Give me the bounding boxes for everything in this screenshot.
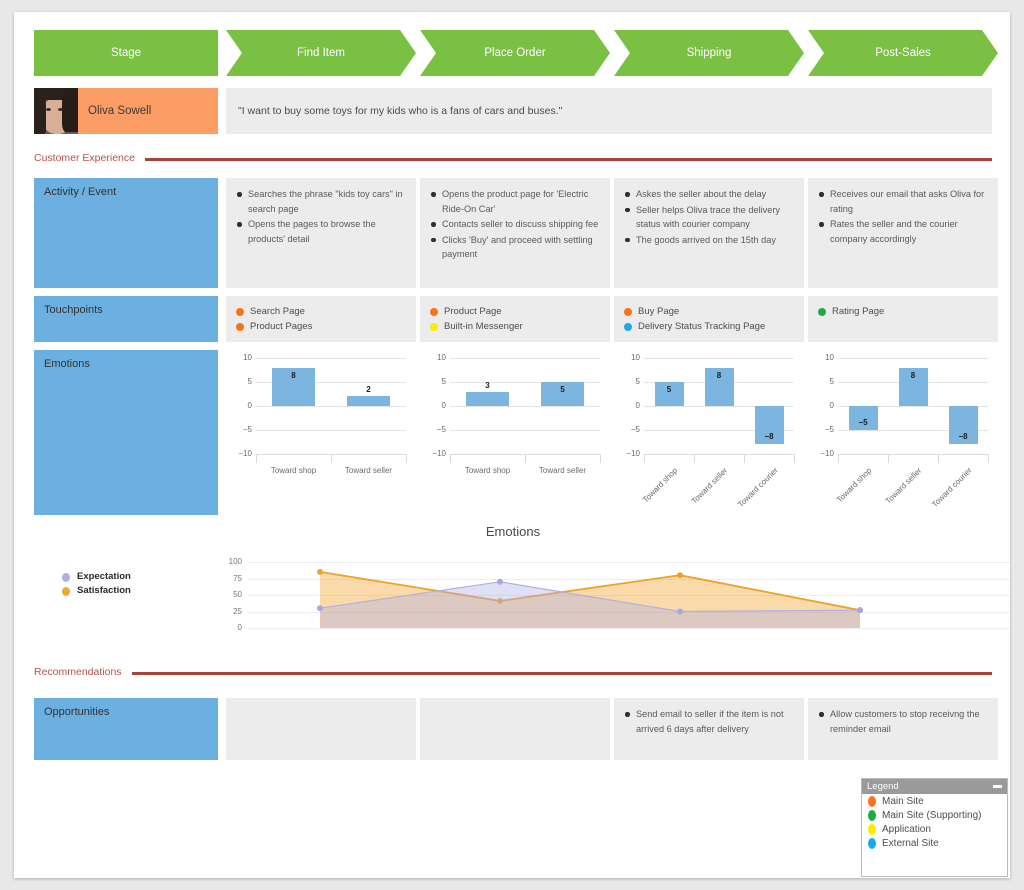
- category-label: Toward courier: [930, 466, 974, 510]
- emotions-chart-title: Emotions: [34, 524, 992, 539]
- y-axis-tick: −5: [424, 425, 446, 434]
- category-label: Toward shop: [260, 466, 328, 477]
- list-item: Clicks 'Buy' and proceed with settling p…: [442, 233, 602, 262]
- category-label: Toward shop: [636, 466, 680, 510]
- axis-tick: [331, 454, 332, 463]
- row-activity-event: Activity / Event Searches the phrase "ki…: [34, 178, 992, 288]
- y-axis-tick: 10: [424, 353, 446, 362]
- list-item: Opens the pages to browse the products' …: [248, 217, 408, 246]
- cell-activity-2[interactable]: Opens the product page for 'Electric Rid…: [420, 178, 610, 288]
- list-item: Allow customers to stop receivng the rem…: [830, 707, 990, 736]
- axis-tick: [888, 454, 889, 463]
- series-label: Satisfaction: [77, 584, 131, 598]
- legend-item-label: Application: [882, 824, 931, 835]
- legend-series-satisfaction[interactable]: Satisfaction: [62, 584, 131, 598]
- list-item: The goods arrived on the 15th day: [636, 233, 796, 248]
- touchpoint-item[interactable]: Built-in Messenger: [430, 319, 602, 334]
- legend-item[interactable]: Main Site: [862, 794, 1007, 808]
- row-label-opportunities: Opportunities: [34, 698, 218, 760]
- y-axis-tick: −10: [812, 449, 834, 458]
- y-axis-tick: 5: [230, 377, 252, 386]
- y-axis-tick: 0: [230, 401, 252, 410]
- stage-place-order[interactable]: Place Order: [420, 30, 610, 76]
- gridline: [256, 358, 406, 359]
- row-opportunities: Opportunities Send email to seller if th…: [34, 698, 992, 760]
- axis-tick: [794, 454, 795, 463]
- touchpoint-dot-icon: [236, 308, 244, 316]
- y-axis-tick: 10: [812, 353, 834, 362]
- bar-value-label: 3: [468, 381, 508, 390]
- cell-activity-4[interactable]: Receives our email that asks Oliva for r…: [808, 178, 998, 288]
- gridline: [256, 406, 406, 407]
- stage-post-sales[interactable]: Post-Sales: [808, 30, 998, 76]
- emotion-chart-post-sales[interactable]: 1050−5−10−58−8Toward shopToward sellerTo…: [808, 350, 998, 515]
- legend-items: Main SiteMain Site (Supporting)Applicati…: [862, 794, 1007, 850]
- y-axis-tick: 0: [618, 401, 640, 410]
- bar-value-label: 8: [893, 371, 933, 380]
- category-label: Toward seller: [529, 466, 597, 477]
- row-label-touchpoints: Touchpoints: [34, 296, 218, 342]
- bar-value-label: 5: [649, 385, 689, 394]
- data-point: [677, 609, 683, 615]
- category-label: Toward shop: [830, 466, 874, 510]
- axis-tick: [600, 454, 601, 463]
- y-axis-tick: 10: [230, 353, 252, 362]
- category-label: Toward seller: [686, 466, 730, 510]
- section-label: Recommendations: [34, 666, 122, 678]
- collapse-icon[interactable]: [993, 785, 1002, 788]
- y-axis-tick: −10: [424, 449, 446, 458]
- touchpoint-label: Buy Page: [638, 304, 679, 319]
- touchpoint-label: Built-in Messenger: [444, 319, 523, 334]
- stage-header-label: Stage: [34, 30, 218, 76]
- y-axis-tick: −5: [618, 425, 640, 434]
- legend-header: Legend: [862, 779, 1007, 794]
- touchpoint-item[interactable]: Product Pages: [236, 319, 408, 334]
- bar[interactable]: [466, 392, 510, 406]
- axis-tick: [525, 454, 526, 463]
- y-axis-tick: 5: [618, 377, 640, 386]
- row-touchpoints: Touchpoints Search PageProduct Pages Pro…: [34, 296, 992, 342]
- gridline: [838, 358, 988, 359]
- legend-series-expectation[interactable]: Expectation: [62, 570, 131, 584]
- cell-touchpoints-3[interactable]: Buy PageDelivery Status Tracking Page: [614, 296, 804, 342]
- bar-value-label: −5: [843, 418, 883, 427]
- list-item: Seller helps Oliva trace the delivery st…: [636, 203, 796, 232]
- cell-touchpoints-2[interactable]: Product PageBuilt-in Messenger: [420, 296, 610, 342]
- y-axis-tick: −10: [618, 449, 640, 458]
- persona-card[interactable]: Oliva Sowell: [34, 88, 218, 134]
- persona-row: Oliva Sowell "I want to buy some toys fo…: [34, 88, 992, 134]
- touchpoint-dot-icon: [818, 308, 826, 316]
- y-axis-tick: 10: [618, 353, 640, 362]
- gridline: [450, 406, 600, 407]
- category-label: Toward courier: [736, 466, 780, 510]
- touchpoint-label: Delivery Status Tracking Page: [638, 319, 765, 334]
- gridline: [256, 430, 406, 431]
- series-color-icon: [62, 573, 70, 582]
- emotions-area-chart[interactable]: Emotions ExpectationSatisfaction 1007550…: [34, 524, 992, 652]
- touchpoint-item[interactable]: Search Page: [236, 304, 408, 319]
- axis-tick: [938, 454, 939, 463]
- legend-item-label: Main Site (Supporting): [882, 810, 982, 821]
- list-item: Rates the seller and the courier company…: [830, 217, 990, 246]
- axis-tick: [406, 454, 407, 463]
- list-item: Askes the seller about the delay: [636, 187, 796, 202]
- category-axis: [644, 454, 794, 455]
- cell-touchpoints-1[interactable]: Search PageProduct Pages: [226, 296, 416, 342]
- y-axis-tick: 5: [812, 377, 834, 386]
- axis-tick: [644, 454, 645, 463]
- y-axis-tick: 0: [424, 401, 446, 410]
- legend-panel[interactable]: Legend Main SiteMain Site (Supporting)Ap…: [861, 778, 1008, 877]
- row-label-emotions: Emotions: [34, 350, 218, 515]
- persona-quote: "I want to buy some toys for my kids who…: [226, 88, 992, 134]
- bar-value-label: 2: [349, 385, 389, 394]
- data-point: [317, 569, 323, 575]
- touchpoint-dot-icon: [624, 308, 632, 316]
- cell-opportunity-2[interactable]: [420, 698, 610, 760]
- series-label: Expectation: [77, 570, 131, 584]
- legend-title: Legend: [867, 781, 899, 792]
- touchpoint-label: Search Page: [250, 304, 305, 319]
- series-color-icon: [62, 587, 70, 596]
- touchpoint-item[interactable]: Delivery Status Tracking Page: [624, 319, 796, 334]
- list-item: Send email to seller if the item is not …: [636, 707, 796, 736]
- touchpoint-item[interactable]: Product Page: [430, 304, 602, 319]
- gridline: [644, 358, 794, 359]
- legend-item[interactable]: Main Site (Supporting): [862, 808, 1007, 822]
- emotion-chart-find-item[interactable]: 1050−5−1082Toward shopToward seller: [226, 350, 416, 515]
- y-axis-tick: 5: [424, 377, 446, 386]
- stage-find-item[interactable]: Find Item: [226, 30, 416, 76]
- bar[interactable]: [347, 396, 391, 406]
- bar-value-label: 8: [699, 371, 739, 380]
- emotions-chart-legend: ExpectationSatisfaction: [62, 570, 131, 598]
- section-customer-experience: Customer Experience: [34, 150, 992, 166]
- emotions-plot-area: 1007550250: [220, 558, 1010, 644]
- journey-map-canvas: Stage Find Item Place Order Shipping Pos…: [14, 12, 1010, 878]
- section-recommendations: Recommendations: [34, 664, 992, 680]
- list-item: Opens the product page for 'Electric Rid…: [442, 187, 602, 216]
- y-axis-tick: 0: [812, 401, 834, 410]
- touchpoint-label: Product Pages: [250, 319, 312, 334]
- axis-tick: [744, 454, 745, 463]
- cell-activity-1[interactable]: Searches the phrase "kids toy cars" in s…: [226, 178, 416, 288]
- data-point: [317, 605, 323, 611]
- category-axis: [838, 454, 988, 455]
- stage-header-row: Stage Find Item Place Order Shipping Pos…: [34, 30, 992, 76]
- axis-tick: [694, 454, 695, 463]
- touchpoint-dot-icon: [624, 323, 632, 331]
- legend-item-label: Main Site: [882, 796, 924, 807]
- category-label: Toward shop: [454, 466, 522, 477]
- row-emotions: Emotions 1050−5−1082Toward shopToward se…: [34, 350, 992, 515]
- legend-item[interactable]: External Site: [862, 836, 1007, 850]
- data-point: [677, 572, 683, 578]
- axis-tick: [450, 454, 451, 463]
- list-item: Receives our email that asks Oliva for r…: [830, 187, 990, 216]
- area-chart-svg: [220, 558, 1010, 644]
- axis-tick: [988, 454, 989, 463]
- list-item: Searches the phrase "kids toy cars" in s…: [248, 187, 408, 216]
- bar-value-label: 5: [543, 385, 583, 394]
- emotion-chart-place-order[interactable]: 1050−5−1035Toward shopToward seller: [420, 350, 610, 515]
- cell-opportunity-3[interactable]: Send email to seller if the item is not …: [614, 698, 804, 760]
- y-axis-tick: −10: [230, 449, 252, 458]
- section-label: Customer Experience: [34, 152, 135, 164]
- touchpoint-item[interactable]: Buy Page: [624, 304, 796, 319]
- cell-activity-3[interactable]: Askes the seller about the delaySeller h…: [614, 178, 804, 288]
- touchpoint-dot-icon: [430, 323, 438, 331]
- gridline: [450, 430, 600, 431]
- legend-item[interactable]: Application: [862, 822, 1007, 836]
- list-item: Contacts seller to discuss shipping fee: [442, 217, 602, 232]
- cell-opportunity-1[interactable]: [226, 698, 416, 760]
- stage-shipping[interactable]: Shipping: [614, 30, 804, 76]
- legend-color-icon: [868, 824, 876, 835]
- touchpoint-label: Product Page: [444, 304, 502, 319]
- touchpoint-item[interactable]: Rating Page: [818, 304, 990, 319]
- section-rule: [145, 158, 992, 161]
- bar-value-label: 8: [274, 371, 314, 380]
- gridline: [450, 358, 600, 359]
- y-axis-tick: −5: [230, 425, 252, 434]
- touchpoint-dot-icon: [430, 308, 438, 316]
- data-point: [857, 607, 863, 613]
- bar-value-label: −8: [749, 432, 789, 441]
- section-rule: [132, 672, 992, 675]
- bar-value-label: −8: [943, 432, 983, 441]
- legend-color-icon: [868, 838, 876, 849]
- legend-item-label: External Site: [882, 838, 939, 849]
- axis-tick: [256, 454, 257, 463]
- persona-name: Oliva Sowell: [78, 105, 151, 117]
- legend-color-icon: [868, 810, 876, 821]
- axis-tick: [838, 454, 839, 463]
- cell-opportunity-4[interactable]: Allow customers to stop receivng the rem…: [808, 698, 998, 760]
- data-point: [497, 579, 503, 585]
- cell-touchpoints-4[interactable]: Rating Page: [808, 296, 998, 342]
- category-label: Toward seller: [335, 466, 403, 477]
- avatar: [34, 88, 78, 134]
- row-label-activity: Activity / Event: [34, 178, 218, 288]
- legend-color-icon: [868, 796, 876, 807]
- category-label: Toward seller: [880, 466, 924, 510]
- emotion-chart-shipping[interactable]: 1050−5−1058−8Toward shopToward sellerTow…: [614, 350, 804, 515]
- touchpoint-label: Rating Page: [832, 304, 884, 319]
- touchpoint-dot-icon: [236, 323, 244, 331]
- y-axis-tick: −5: [812, 425, 834, 434]
